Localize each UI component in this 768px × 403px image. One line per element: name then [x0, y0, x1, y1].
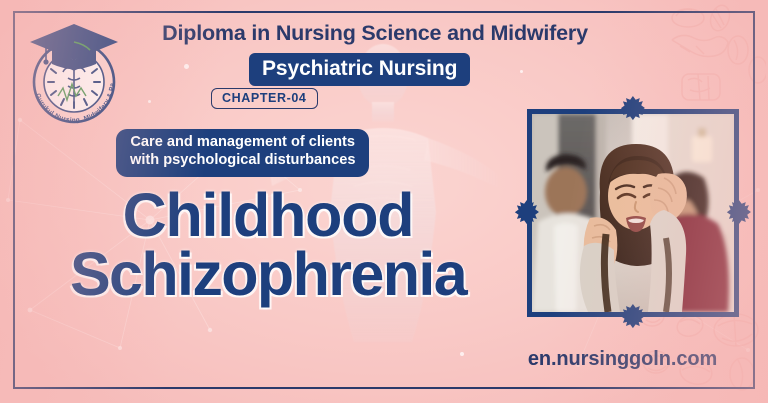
frame-ornament-top-icon	[620, 96, 646, 122]
anatomy-lineart-top-right-icon	[646, 2, 766, 122]
bg-dot	[148, 100, 151, 103]
topic-badge: Care and management of clients with psyc…	[116, 129, 369, 177]
title-line-1: Childhood	[123, 181, 414, 249]
topic-line-1: Care and management of clients	[130, 134, 355, 150]
page-title: Childhood Schizophrenia	[18, 186, 518, 303]
frame-ornament-left-icon	[514, 200, 540, 226]
photo-frame-border	[527, 109, 739, 317]
frame-ornament-bottom-icon	[620, 304, 646, 330]
website-url: en.nursinggoln.com	[495, 348, 750, 371]
bg-dot	[460, 352, 464, 356]
course-title: Diploma in Nursing Science and Midwifery	[140, 21, 610, 46]
poster-canvas: Gurukul Nursing, Midwifery & Patient Car…	[0, 0, 768, 403]
subject-badge: Psychiatric Nursing	[249, 53, 470, 86]
photo-card	[527, 109, 739, 317]
bg-dot	[520, 70, 523, 73]
chapter-badge: CHAPTER-04	[211, 88, 318, 109]
bg-dot	[184, 64, 189, 69]
frame-ornament-right-icon	[726, 200, 752, 226]
gurukul-nursing-logo: Gurukul Nursing, Midwifery & Patient Car…	[22, 22, 126, 128]
topic-line-2: with psychological disturbances	[130, 152, 355, 168]
title-line-2: Schizophrenia	[18, 245, 518, 304]
